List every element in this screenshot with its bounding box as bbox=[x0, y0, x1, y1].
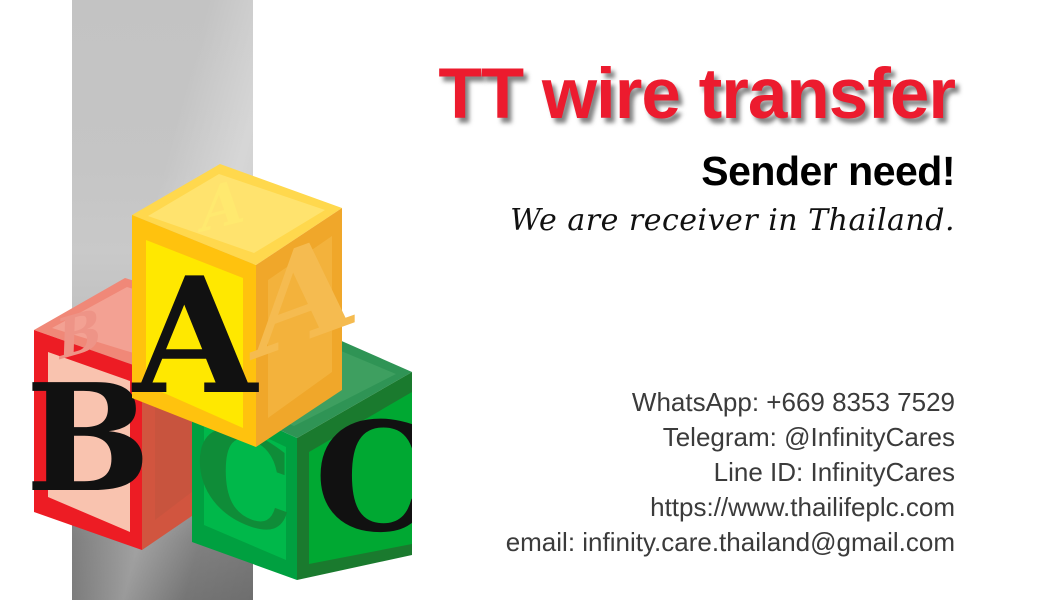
contact-line-website[interactable]: https://www.thailifeplc.com bbox=[506, 490, 955, 525]
page-title: TT wire transfer bbox=[438, 58, 955, 133]
contact-line-email[interactable]: email: infinity.care.thailand@gmail.com bbox=[506, 525, 955, 560]
svg-text:A: A bbox=[131, 242, 259, 430]
contact-line-whatsapp: WhatsApp: +669 8353 7529 bbox=[506, 385, 955, 420]
contact-line-lineid: Line ID: InfinityCares bbox=[506, 455, 955, 490]
svg-text:B: B bbox=[25, 351, 150, 525]
contact-line-telegram: Telegram: @InfinityCares bbox=[506, 420, 955, 455]
abc-blocks-illustration: B B C C C bbox=[12, 160, 412, 580]
business-card-canvas: B B C C C bbox=[0, 0, 1063, 600]
contact-block: WhatsApp: +669 8353 7529 Telegram: @Infi… bbox=[506, 385, 955, 560]
tagline: We are receiver in Thailand. bbox=[510, 202, 955, 240]
subtitle: Sender need! bbox=[701, 149, 955, 194]
svg-text:C: C bbox=[314, 390, 412, 566]
svg-text:A: A bbox=[197, 165, 247, 248]
svg-text:B: B bbox=[56, 295, 102, 374]
